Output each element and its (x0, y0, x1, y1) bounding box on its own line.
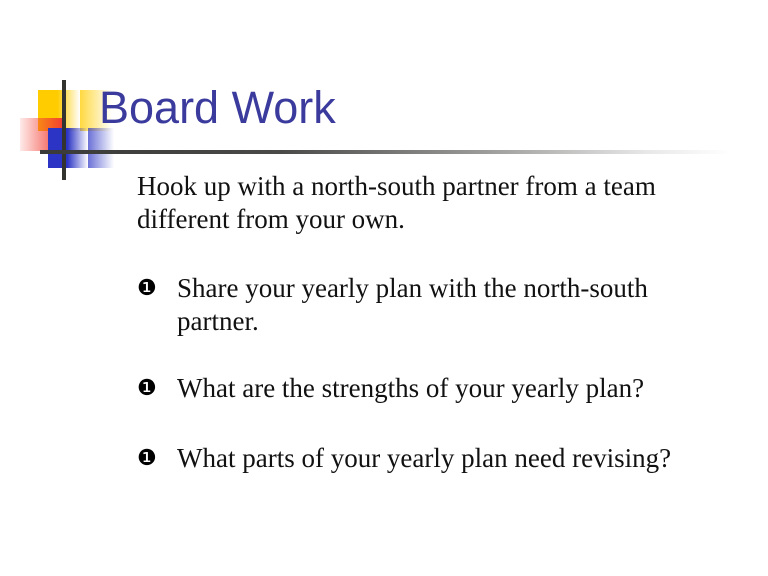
slide-body: Hook up with a north-south partner from … (0, 0, 768, 576)
negative-circled-six-bullet-icon: ❶ (137, 442, 177, 475)
negative-circled-six-bullet-icon: ❶ (137, 372, 177, 405)
negative-circled-six-bullet-icon: ❶ (137, 272, 177, 305)
list-item-label: What are the strengths of your yearly pl… (177, 372, 707, 405)
list-item: ❶ What are the strengths of your yearly … (137, 372, 707, 405)
intro-paragraph: Hook up with a north-south partner from … (137, 170, 723, 236)
list-item: ❶ Share your yearly plan with the north-… (137, 272, 707, 338)
list-item-label: What parts of your yearly plan need revi… (177, 442, 707, 475)
slide: Board Work Hook up with a north-south pa… (0, 0, 768, 576)
list-item: ❶ What parts of your yearly plan need re… (137, 442, 707, 475)
list-item-label: Share your yearly plan with the north-so… (177, 272, 707, 338)
